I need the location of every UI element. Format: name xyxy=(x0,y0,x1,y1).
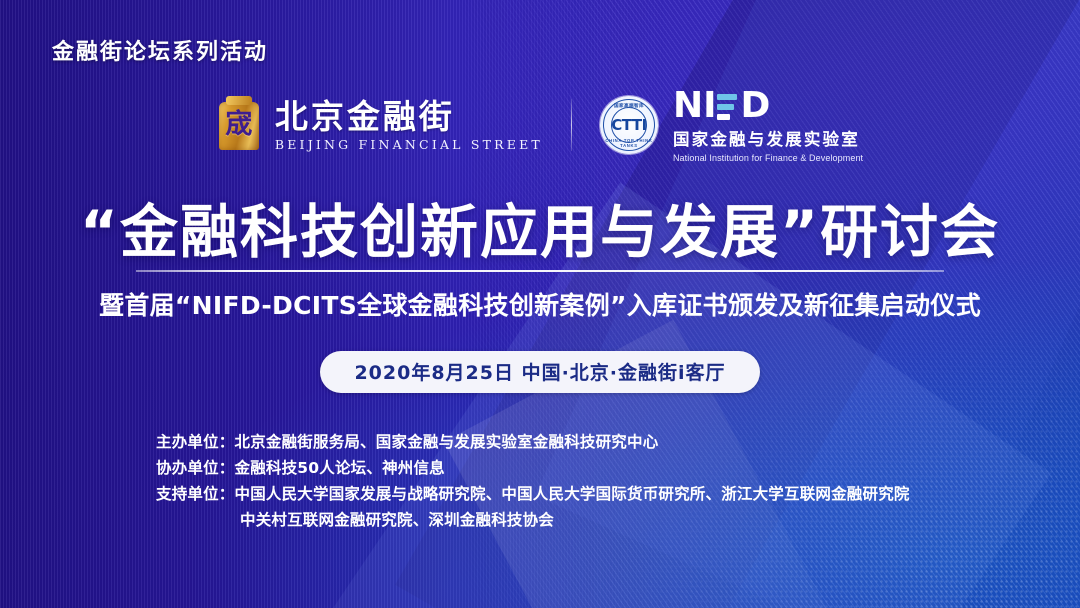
title-divider-rule xyxy=(136,270,944,272)
nifd-english-name: National Institution for Finance & Devel… xyxy=(673,154,863,163)
bfs-emblem-glyph: 宬 xyxy=(217,105,261,145)
credits-host-line: 主办单位：北京金融街服务局、国家金融与发展实验室金融科技研究中心 xyxy=(156,429,910,455)
event-series-kicker: 金融街论坛系列活动 xyxy=(52,34,268,66)
bfs-wordmark: 北京金融街 BEIJING FINANCIAL STREET xyxy=(275,100,543,152)
seal-arc-bottom-text: CHINA TOP THINK TANKS xyxy=(600,138,658,148)
bfs-chinese-name: 北京金融街 xyxy=(275,100,543,133)
conference-banner: 金融街论坛系列活动 宬 北京金融街 BEIJING FINANCIAL STRE… xyxy=(0,0,1080,608)
nifd-f-bars-icon xyxy=(717,93,739,120)
bfs-emblem-cap xyxy=(226,96,252,105)
nifd-wordmark: NI D 国家金融与发展实验室 National Institution for… xyxy=(673,88,863,163)
logo-separator-divider xyxy=(571,99,572,151)
page-title: “金融科技创新应用与发展”研讨会 xyxy=(0,185,1080,269)
ctti-seal-icon: 国家高端智库 CTTI CHINA TOP THINK TANKS xyxy=(600,96,658,154)
nifd-chinese-name: 国家金融与发展实验室 xyxy=(673,132,863,149)
bfs-emblem-icon: 宬 xyxy=(217,96,261,154)
logo-band: 宬 北京金融街 BEIJING FINANCIAL STREET 国家高端智库 … xyxy=(0,88,1080,163)
nifd-acronym: NI D xyxy=(673,88,863,124)
credits-supporter-line-1: 支持单位：中国人民大学国家发展与战略研究院、中国人民大学国际货币研究所、浙江大学… xyxy=(156,481,910,507)
date-location-row: 2020年8月25日 中国·北京·金融街i客厅 xyxy=(0,351,1080,393)
credits-block: 主办单位：北京金融街服务局、国家金融与发展实验室金融科技研究中心 协办单位：金融… xyxy=(156,429,910,533)
credits-coorganizer-line: 协办单位：金融科技50人论坛、神州信息 xyxy=(156,455,910,481)
date-location-badge: 2020年8月25日 中国·北京·金融街i客厅 xyxy=(320,351,759,393)
nifd-acronym-part1: NI xyxy=(673,88,717,124)
beijing-financial-street-logo: 宬 北京金融街 BEIJING FINANCIAL STREET xyxy=(217,96,543,154)
credits-supporter-line-2: 中关村互联网金融研究院、深圳金融科技协会 xyxy=(156,507,910,533)
nifd-acronym-part2: D xyxy=(740,88,770,124)
nifd-logo: 国家高端智库 CTTI CHINA TOP THINK TANKS NI D 国… xyxy=(600,88,863,163)
page-subtitle: 暨首届“NIFD-DCITS全球金融科技创新案例”入库证书颁发及新征集启动仪式 xyxy=(0,286,1080,322)
bfs-english-name: BEIJING FINANCIAL STREET xyxy=(275,139,543,152)
